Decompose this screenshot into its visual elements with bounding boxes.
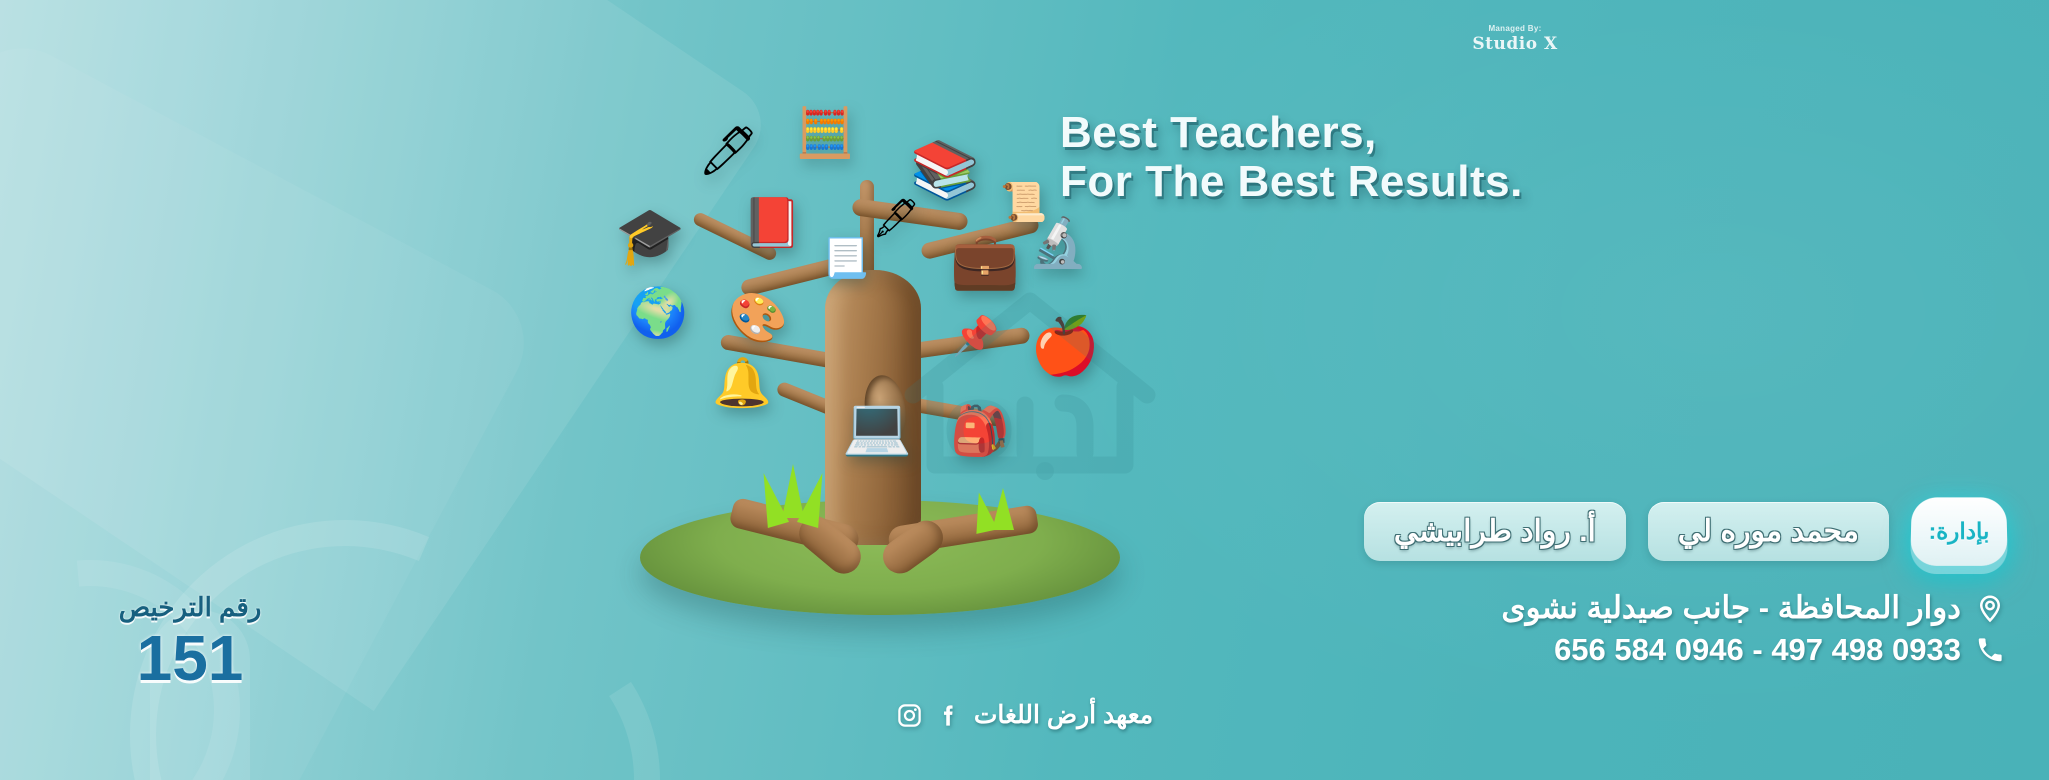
paint-palette-icon: 🎨 xyxy=(728,295,788,343)
manager-pill-1[interactable]: محمد موره لي xyxy=(1648,502,1889,561)
address-text: دوار المحافظة - جانب صيدلية نشوى xyxy=(1501,590,1961,626)
location-pin-icon xyxy=(1975,593,2005,623)
phone-line: 0933 498 497 - 0946 584 656 xyxy=(1501,632,2005,668)
certificate-icon: 📃 xyxy=(822,240,869,278)
instagram-icon[interactable] xyxy=(896,702,923,729)
grass-blade xyxy=(992,488,1014,530)
pen-icon: 🖋 xyxy=(872,200,920,238)
education-tree-illustration: 🎓 🖊 🧮 📚 📜 📕 🖋 💼 🔬 📃 🎨 🌍 🔔 💻 🎒 🍎 📌 xyxy=(620,120,1140,620)
managed-by-label: Managed By: xyxy=(1460,24,1570,33)
social-account-name: معهد أرض اللغات xyxy=(974,700,1153,730)
facebook-icon[interactable] xyxy=(935,702,962,729)
license-number-block: رقم الترخيص 151 xyxy=(80,592,300,692)
management-row: بإدارة: محمد موره لي أ. رواد طرابيشي xyxy=(1364,496,2007,566)
briefcase-icon: 💼 xyxy=(950,232,1020,288)
manager-pill-2[interactable]: أ. رواد طرابيشي xyxy=(1364,502,1626,561)
managed-by-badge: بإدارة: xyxy=(1910,497,2008,565)
backpack-icon: 🎒 xyxy=(950,408,1010,456)
calculator-icon: 🧮 xyxy=(795,110,855,158)
address-line: دوار المحافظة - جانب صيدلية نشوى xyxy=(1501,590,2005,626)
phone-numbers-text: 0933 498 497 - 0946 584 656 xyxy=(1554,632,1961,668)
apple-icon: 🍎 xyxy=(1030,318,1100,374)
microscope-icon: 🔬 xyxy=(1028,220,1088,268)
globe-icon: 🌍 xyxy=(628,290,688,338)
push-pin-icon: 📌 xyxy=(952,318,999,356)
phone-icon xyxy=(1975,635,2005,665)
managed-by-studio-name: Studio X xyxy=(1460,34,1570,54)
managed-by-badge-label: بإدارة: xyxy=(1928,518,1989,544)
laptop-icon: 💻 xyxy=(842,398,912,454)
social-footer: معهد أرض اللغات xyxy=(0,700,2049,730)
managed-by-credit: Managed By: Studio X xyxy=(1460,24,1570,54)
bell-icon: 🔔 xyxy=(712,360,772,408)
pencil-cup-icon: 🖊 xyxy=(698,128,759,176)
open-book-icon: 📕 xyxy=(742,200,802,248)
graduation-cap-icon: 🎓 xyxy=(615,208,685,264)
books-stack-icon: 📚 xyxy=(910,142,980,198)
license-label: رقم الترخيص xyxy=(80,592,300,623)
license-number-value: 151 xyxy=(80,625,300,692)
promo-banner: Managed By: Studio X Best Teachers, For … xyxy=(0,0,2049,780)
contact-block: دوار المحافظة - جانب صيدلية نشوى 0933 49… xyxy=(1501,590,2005,674)
